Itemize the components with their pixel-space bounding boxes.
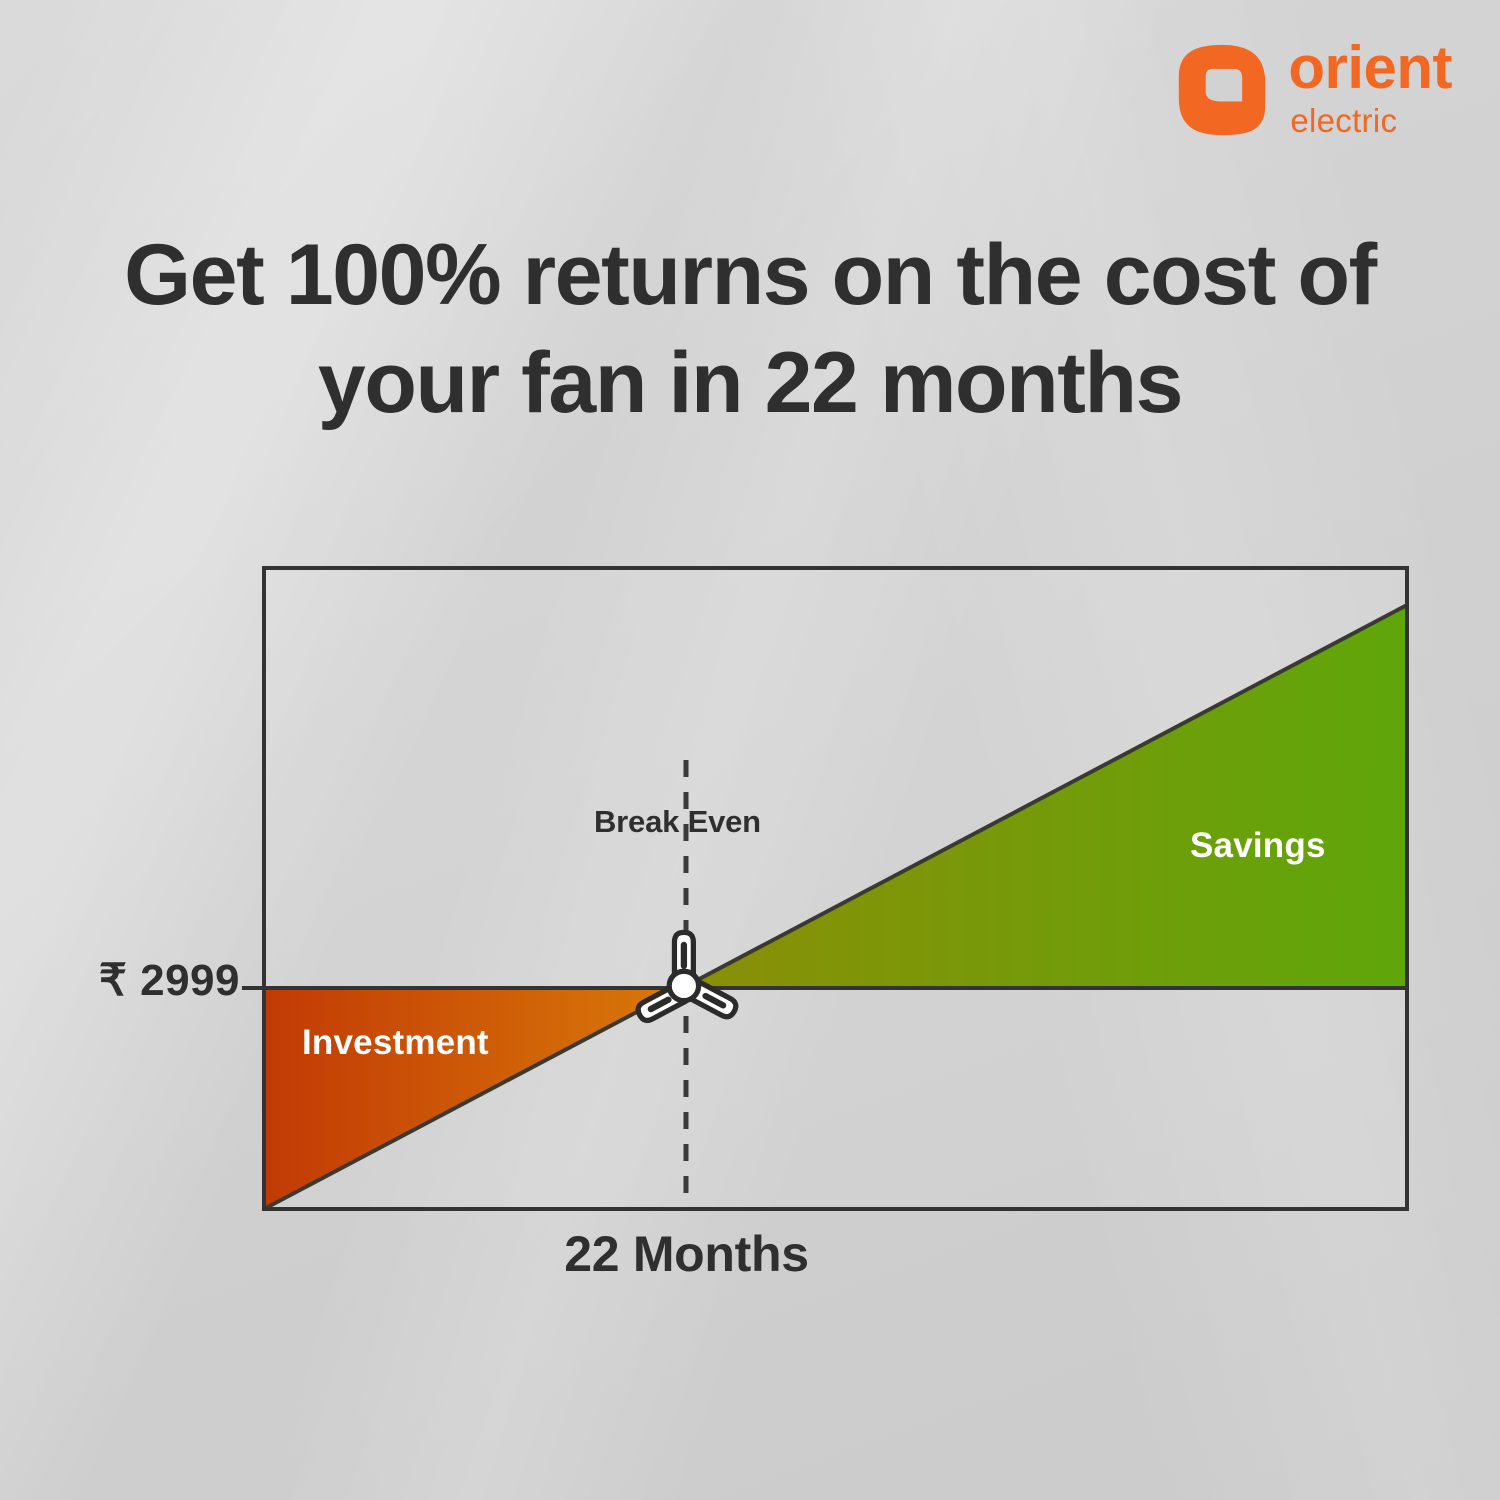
y-axis-tick-label: ₹ 2999 [70,955,240,1006]
breakeven-chart: Investment Savings Break Even [264,568,1407,1209]
page-title: Get 100% returns on the cost of your fan… [0,222,1500,437]
break-even-label: Break Even [594,804,761,840]
brand-wordmark: orient electric [1288,38,1452,141]
investment-area-label: Investment [302,1023,489,1063]
headline-line-2: your fan in 22 months [70,330,1430,438]
headline-line-1: Get 100% returns on the cost of [70,222,1430,330]
savings-area-label: Savings [1190,826,1326,866]
poster-canvas: orient electric Get 100% returns on the … [0,0,1500,1500]
brand-name: orient [1288,38,1452,98]
brand-logo: orient electric [1174,38,1452,141]
x-axis-tick-label: 22 Months [264,1225,1109,1283]
chart-plot-area [264,568,1407,1209]
orient-o-mark-icon [1174,42,1270,138]
brand-tagline: electric [1290,104,1397,137]
